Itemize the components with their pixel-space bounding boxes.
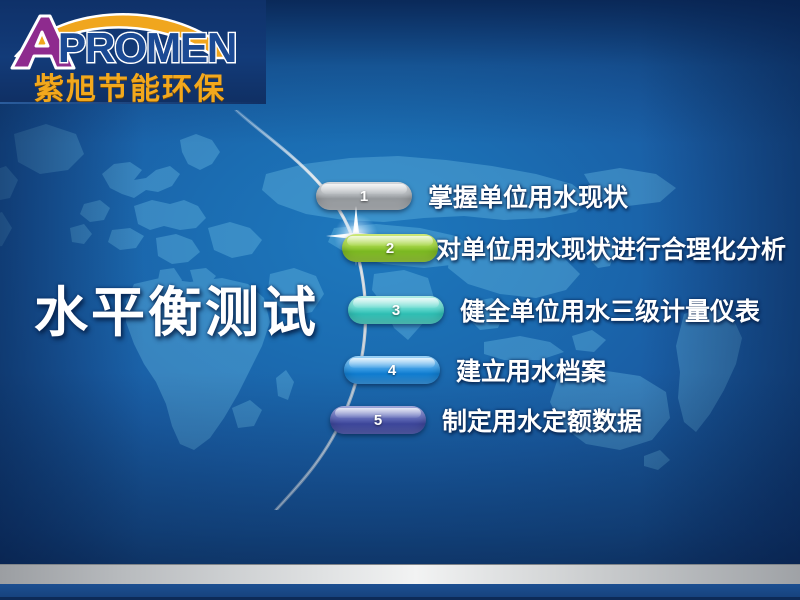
step-number: 2: [386, 241, 394, 256]
slide-canvas: PROMEN PROMEN 紫旭节能环保 水平衡测试 1 掌握单位用水现状 2: [0, 0, 800, 600]
step-number: 1: [360, 189, 368, 204]
list-item[interactable]: 4 建立用水档案: [344, 352, 606, 388]
footer-silver-bar: [0, 564, 800, 585]
list-item[interactable]: 1 掌握单位用水现状: [316, 178, 628, 214]
step-badge-2[interactable]: 2: [342, 234, 438, 262]
step-badge-1[interactable]: 1: [316, 182, 412, 210]
step-label: 建立用水档案: [456, 352, 606, 388]
logo-chinese-name: 紫旭节能环保: [34, 64, 226, 108]
company-logo-band: PROMEN PROMEN 紫旭节能环保: [0, 0, 266, 104]
step-badge-4[interactable]: 4: [344, 356, 440, 384]
list-item[interactable]: 5 制定用水定额数据: [330, 402, 642, 438]
step-label: 制定用水定额数据: [442, 402, 642, 438]
step-label: 对单位用水现状进行合理化分析: [436, 230, 786, 266]
list-item[interactable]: 2 对单位用水现状进行合理化分析: [342, 230, 786, 266]
step-badge-5[interactable]: 5: [330, 406, 426, 434]
step-label: 健全单位用水三级计量仪表: [460, 292, 760, 328]
step-label: 掌握单位用水现状: [428, 178, 628, 214]
step-number: 5: [374, 413, 382, 428]
footer-bottom-bar: [0, 584, 800, 600]
step-badge-3[interactable]: 3: [348, 296, 444, 324]
list-item[interactable]: 3 健全单位用水三级计量仪表: [348, 292, 760, 328]
page-title: 水平衡测试: [34, 268, 319, 347]
step-number: 3: [392, 303, 400, 318]
step-number: 4: [388, 363, 396, 378]
